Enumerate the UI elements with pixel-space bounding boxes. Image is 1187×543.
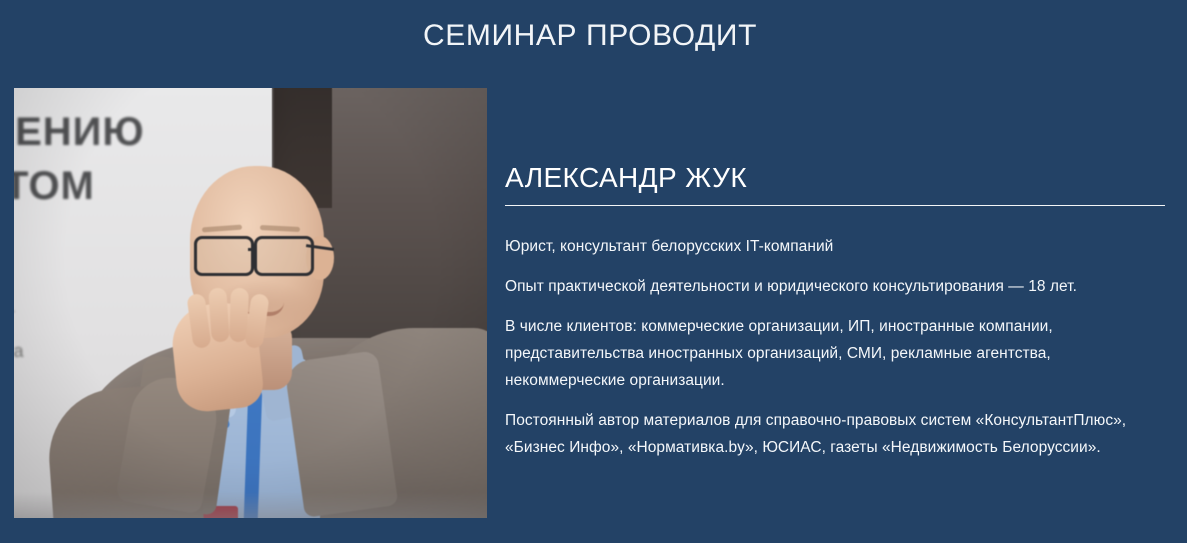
bio-paragraph: Постоянный автор материалов для справочн… bbox=[505, 407, 1167, 461]
bio-paragraph: Опыт практической деятельности и юридиче… bbox=[505, 273, 1167, 300]
glasses-lens-left bbox=[194, 236, 254, 276]
speaker-figure bbox=[14, 88, 487, 518]
speaker-info: АЛЕКСАНДР ЖУК Юрист, консультант белорус… bbox=[505, 160, 1167, 461]
speaker-section: СЕМИНАР ПРОВОДИТ ЛЕНИЮ ТОМ ыг ета bbox=[0, 0, 1187, 543]
bio-paragraph: В числе клиентов: коммерческие организац… bbox=[505, 313, 1167, 394]
speaker-name-divider bbox=[505, 205, 1165, 206]
speaker-photo-image: ЛЕНИЮ ТОМ ыг ета bbox=[14, 88, 487, 518]
glasses-bridge bbox=[248, 248, 256, 251]
glasses-lens-right bbox=[254, 236, 314, 276]
finger bbox=[208, 287, 230, 342]
section-title: СЕМИНАР ПРОВОДИТ bbox=[0, 17, 1180, 55]
speaker-bio: Юрист, консультант белорусских IT-компан… bbox=[505, 233, 1167, 461]
bio-paragraph: Юрист, консультант белорусских IT-компан… bbox=[505, 233, 1167, 260]
speaker-photo: ЛЕНИЮ ТОМ ыг ета bbox=[14, 88, 487, 518]
speaker-name: АЛЕКСАНДР ЖУК bbox=[505, 160, 1167, 196]
